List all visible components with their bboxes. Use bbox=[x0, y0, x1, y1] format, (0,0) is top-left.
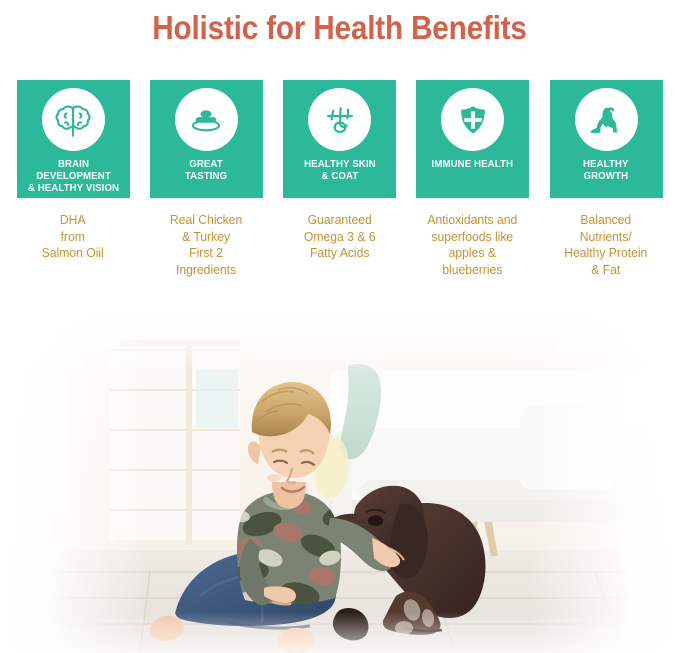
benefit-card-healthy-skin: HEALTHY SKIN & COAT bbox=[283, 80, 396, 198]
page-title: Holistic for Health Benefits bbox=[34, 0, 645, 44]
benefit-card-brain-development: BRAIN DEVELOPMENT & HEALTHY VISION bbox=[17, 80, 130, 198]
benefit-card-great-tasting: GREAT TASTING bbox=[150, 80, 263, 198]
food-bowl-icon bbox=[175, 88, 238, 151]
sitting-dog-icon bbox=[575, 88, 638, 151]
benefit-label: GREAT TASTING bbox=[183, 158, 229, 182]
benefit-caption: Balanced Nutrients/ Healthy Protein & Fa… bbox=[564, 212, 647, 278]
benefit-caption: DHA from Salmon Oiil bbox=[42, 212, 104, 262]
benefit-item-healthy-skin: HEALTHY SKIN & COAT Guaranteed Omega 3 &… bbox=[277, 80, 403, 262]
benefit-label: BRAIN DEVELOPMENT & HEALTHY VISION bbox=[21, 158, 125, 194]
benefit-card-healthy-growth: HEALTHY GROWTH bbox=[550, 80, 663, 198]
benefit-item-great-tasting: GREAT TASTING Real Chicken & Turkey Firs… bbox=[143, 80, 269, 278]
benefit-item-immune-health: IMMUNE HEALTH Antioxidants and superfood… bbox=[410, 80, 536, 278]
shield-plus-icon bbox=[441, 88, 504, 151]
hair-follicle-icon bbox=[308, 88, 371, 151]
benefit-caption: Antioxidants and superfoods like apples … bbox=[428, 212, 518, 278]
benefit-card-immune-health: IMMUNE HEALTH bbox=[416, 80, 529, 198]
benefit-label: HEALTHY GROWTH bbox=[581, 158, 630, 182]
brain-icon bbox=[42, 88, 105, 151]
lifestyle-photo bbox=[0, 310, 679, 653]
benefit-label: IMMUNE HEALTH bbox=[430, 158, 515, 170]
benefit-caption: Real Chicken & Turkey First 2 Ingredient… bbox=[170, 212, 242, 278]
benefit-label: HEALTHY SKIN & COAT bbox=[302, 158, 377, 182]
benefit-caption: Guaranteed Omega 3 & 6 Fatty Acids bbox=[304, 212, 376, 262]
benefits-grid: BRAIN DEVELOPMENT & HEALTHY VISION DHA f… bbox=[10, 80, 669, 278]
benefit-item-healthy-growth: HEALTHY GROWTH Balanced Nutrients/ Healt… bbox=[543, 80, 669, 278]
benefit-item-brain-development: BRAIN DEVELOPMENT & HEALTHY VISION DHA f… bbox=[10, 80, 136, 262]
